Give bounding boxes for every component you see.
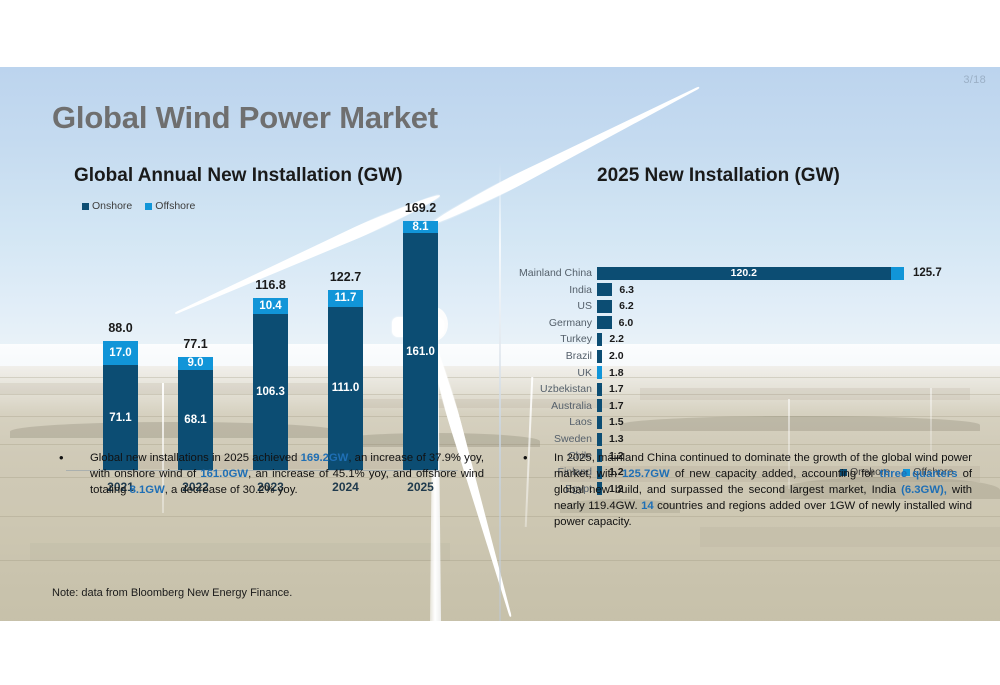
bar-segment-onshore: 111.0 xyxy=(328,307,363,470)
country-bar xyxy=(597,300,612,313)
country-bar xyxy=(597,283,612,296)
country-label: US xyxy=(505,300,597,312)
bar-segment-offshore: 8.1 xyxy=(403,221,438,233)
bar-total-label: 122.7 xyxy=(330,270,361,284)
right-bullet-block: • In 2025, mainland China continued to d… xyxy=(516,450,972,530)
country-bar xyxy=(597,316,612,329)
country-bar-row: US6.2 xyxy=(505,298,975,314)
bar-value-label: 6.3 xyxy=(619,284,634,296)
source-note: Note: data from Bloomberg New Energy Fin… xyxy=(52,587,292,599)
bar-value-label: 1.3 xyxy=(609,433,624,445)
country-bar-row: Mainland China120.2125.7 xyxy=(505,265,975,281)
country-bar-row: Australia1.7 xyxy=(505,398,975,414)
bar-value-label: 6.2 xyxy=(619,300,634,312)
country-label: Australia xyxy=(505,400,597,412)
bar-segment-onshore: 106.3 xyxy=(253,314,288,470)
bullet-text: Global new installations in 2025 achieve… xyxy=(90,450,484,498)
country-label: UK xyxy=(505,367,597,379)
bar-segment-onshore xyxy=(597,399,602,412)
country-installation-chart: Mainland China120.2125.7India6.3US6.2Ger… xyxy=(505,265,975,481)
country-bar xyxy=(597,350,602,363)
country-label: Laos xyxy=(505,416,597,428)
country-bar xyxy=(597,383,602,396)
bar-value-label: 2.2 xyxy=(609,333,624,345)
country-label: Mainland China xyxy=(505,267,597,279)
bar-value-label: 2.0 xyxy=(609,350,624,362)
country-bar xyxy=(597,333,602,346)
bullet-marker: • xyxy=(52,450,90,498)
bar-total-label: 116.8 xyxy=(255,278,286,292)
bar-value-label: 6.0 xyxy=(619,317,634,329)
bar-segment-onshore xyxy=(597,316,612,329)
bar-segment-onshore xyxy=(597,416,602,429)
right-chart-title: 2025 New Installation (GW) xyxy=(597,165,840,187)
highlight-value: 125.7GW xyxy=(622,468,670,480)
bullet-text-part: , a decrease of 30.2% yoy. xyxy=(165,484,298,496)
bar-total-label: 77.1 xyxy=(183,337,207,351)
left-bullet-block: • Global new installations in 2025 achie… xyxy=(52,450,484,498)
country-bar: 120.2 xyxy=(597,267,904,280)
bar-value-label: 1.7 xyxy=(609,383,624,395)
country-bar-row: Brazil2.0 xyxy=(505,348,975,364)
country-bar xyxy=(597,416,602,429)
slide-canvas: 3/18 Global Wind Power Market Global Ann… xyxy=(0,67,1000,621)
country-bar-row: India6.3 xyxy=(505,282,975,298)
column-divider xyxy=(499,163,501,621)
highlight-value: 14 xyxy=(641,500,654,512)
bar-segment-onshore: 161.0 xyxy=(403,233,438,470)
bullet-item: • In 2025, mainland China continued to d… xyxy=(516,450,972,530)
bar-total-label: 169.2 xyxy=(405,201,436,215)
bar-column: 116.810.4106.32023 xyxy=(253,298,288,470)
country-label: Germany xyxy=(505,317,597,329)
bar-value-label: 1.8 xyxy=(609,367,624,379)
country-label: Sweden xyxy=(505,433,597,445)
bar-segment-offshore xyxy=(891,267,904,280)
bar-segment-offshore: 9.0 xyxy=(178,357,213,370)
bullet-marker: • xyxy=(516,450,554,530)
country-label: Uzbekistan xyxy=(505,383,597,395)
country-label: Turkey xyxy=(505,333,597,345)
bar-total-label: 125.7 xyxy=(913,267,942,279)
bar-segment-offshore xyxy=(597,366,602,379)
bullet-item: • Global new installations in 2025 achie… xyxy=(52,450,484,498)
bullet-text-part: of new capacity added, accounting for xyxy=(670,468,880,480)
bar-segment-onshore xyxy=(597,283,612,296)
bar-segment-onshore: 120.2 xyxy=(597,267,891,280)
page-title: Global Wind Power Market xyxy=(52,100,438,136)
page-indicator: 3/18 xyxy=(963,74,986,86)
bar-segment-onshore xyxy=(597,333,602,346)
bar-segment-offshore: 11.7 xyxy=(328,290,363,307)
bar-segment-onshore xyxy=(597,300,612,313)
highlight-value: (6.3GW), xyxy=(901,484,947,496)
highlight-value: three quarters xyxy=(880,468,958,480)
highlight-value: 161.0GW xyxy=(200,468,248,480)
country-bar xyxy=(597,433,602,446)
country-bar-row: Turkey2.2 xyxy=(505,331,975,347)
bullet-text: In 2025, mainland China continued to dom… xyxy=(554,450,972,530)
bar-column: 122.711.7111.02024 xyxy=(328,290,363,470)
bar-segment-onshore xyxy=(597,433,602,446)
country-label: India xyxy=(505,284,597,296)
bullet-text-part: Global new installations in 2025 achieve… xyxy=(90,452,301,464)
country-label: Brazil xyxy=(505,350,597,362)
bar-segment-offshore: 10.4 xyxy=(253,298,288,313)
country-bar xyxy=(597,399,602,412)
bar-column: 169.28.1161.02025 xyxy=(403,221,438,470)
country-bar-row: Sweden1.3 xyxy=(505,431,975,447)
country-bar-row: Germany6.0 xyxy=(505,315,975,331)
highlight-value: 169.2GW xyxy=(301,452,349,464)
country-bar-row: Uzbekistan1.7 xyxy=(505,381,975,397)
country-bar-row: UK1.8 xyxy=(505,365,975,381)
bar-value-label: 1.7 xyxy=(609,400,624,412)
country-bar xyxy=(597,366,602,379)
bar-segment-onshore xyxy=(597,350,602,363)
left-chart-title: Global Annual New Installation (GW) xyxy=(74,165,403,187)
bar-segment-onshore xyxy=(597,383,602,396)
highlight-value: 8.1GW xyxy=(130,484,165,496)
bar-segment-offshore: 17.0 xyxy=(103,341,138,366)
country-bar-row: Laos1.5 xyxy=(505,414,975,430)
bar-value-label: 1.5 xyxy=(609,416,624,428)
bar-total-label: 88.0 xyxy=(108,321,132,335)
